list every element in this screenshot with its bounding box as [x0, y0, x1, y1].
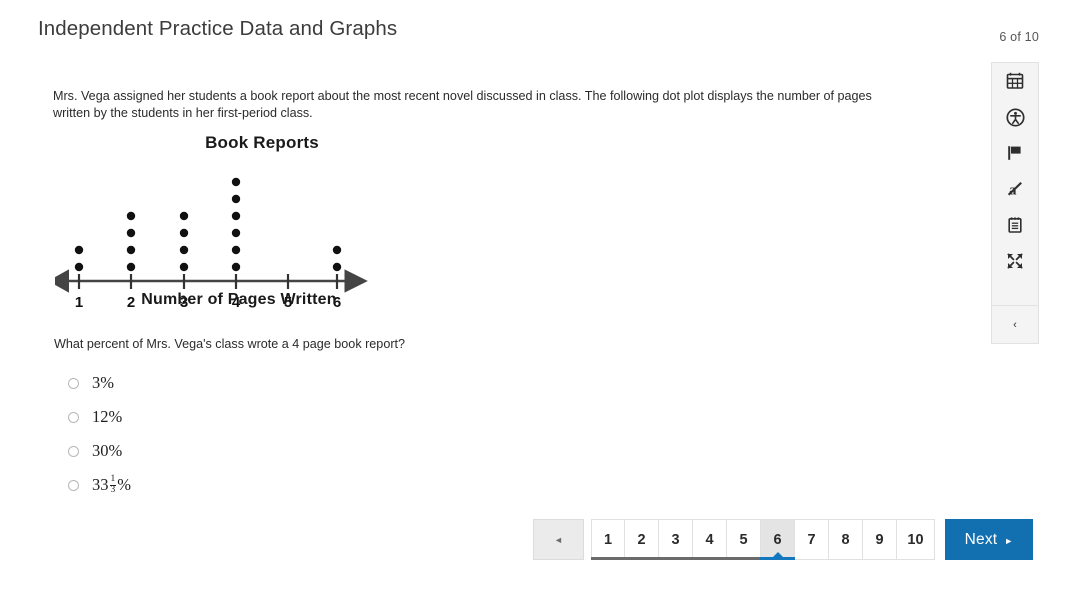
dot-plot-figure: Book Reports [55, 133, 385, 318]
current-page-caret-icon [773, 552, 783, 557]
fraction-denominator: 3 [110, 485, 117, 496]
page-title: Independent Practice Data and Graphs [38, 17, 397, 41]
next-button-label: Next [965, 531, 998, 549]
calculator-icon[interactable] [992, 63, 1038, 99]
page-button-10[interactable]: 10 [897, 519, 935, 560]
page-button-8[interactable]: 8 [829, 519, 863, 560]
stimulus-text: Mrs. Vega assigned her students a book r… [53, 88, 898, 122]
page-button-6-label: 6 [773, 532, 781, 548]
notepad-icon[interactable] [992, 207, 1038, 243]
answer-choice-c[interactable]: 30% [68, 434, 628, 468]
page-button-4[interactable]: 4 [693, 519, 727, 560]
page-button-5[interactable]: 5 [727, 519, 761, 560]
radio-button-d[interactable] [68, 480, 79, 491]
accessibility-icon[interactable] [992, 99, 1038, 135]
assessment-page: Independent Practice Data and Graphs 6 o… [0, 0, 1071, 609]
page-button-6[interactable]: 6 [761, 519, 795, 560]
tool-sidebar: a [991, 62, 1039, 344]
fullscreen-icon[interactable] [992, 243, 1038, 279]
page-button-7[interactable]: 7 [795, 519, 829, 560]
answer-choice-list: 3% 12% 30% 33 1 3 % [68, 366, 628, 502]
page-button-9[interactable]: 9 [863, 519, 897, 560]
page-number-list: 1 2 3 4 5 6 7 8 9 10 [591, 519, 935, 560]
pagination: ◄ 1 2 3 4 5 6 7 8 9 10 Next ► [533, 519, 1033, 560]
answer-choice-d[interactable]: 33 1 3 % [68, 468, 628, 502]
answer-choice-b-label: 12% [92, 409, 122, 426]
answer-choice-a[interactable]: 3% [68, 366, 628, 400]
next-arrow-icon: ► [1004, 536, 1013, 546]
answer-choice-d-suffix: % [117, 477, 131, 494]
page-button-2[interactable]: 2 [625, 519, 659, 560]
question-prompt: What percent of Mrs. Vega's class wrote … [54, 336, 754, 352]
dot-plot-title: Book Reports [112, 133, 412, 153]
radio-button-a[interactable] [68, 378, 79, 389]
flag-icon[interactable] [992, 135, 1038, 171]
answer-choice-d-fraction: 1 3 [110, 475, 117, 496]
answer-choice-c-label: 30% [92, 443, 122, 460]
page-counter: 6 of 10 [999, 30, 1039, 44]
answer-choice-d-label: 33 1 3 % [92, 475, 131, 496]
dot-plot-x-axis-label: Number of Pages Written [55, 291, 375, 309]
radio-button-c[interactable] [68, 446, 79, 457]
next-button[interactable]: Next ► [945, 519, 1033, 560]
dot-plot-svg: 1 2 3 4 5 6 [55, 159, 385, 309]
answer-choice-d-whole: 33 [92, 477, 109, 494]
page-button-3[interactable]: 3 [659, 519, 693, 560]
answer-choice-a-label: 3% [92, 375, 114, 392]
sidebar-collapse-button[interactable]: ‹ [992, 305, 1038, 343]
previous-page-button[interactable]: ◄ [533, 519, 584, 560]
toolbar-spacer [992, 279, 1038, 305]
page-button-1[interactable]: 1 [591, 519, 625, 560]
answer-choice-b[interactable]: 12% [68, 400, 628, 434]
radio-button-b[interactable] [68, 412, 79, 423]
strikethrough-icon[interactable]: a [992, 171, 1038, 207]
fraction-numerator: 1 [110, 475, 117, 485]
